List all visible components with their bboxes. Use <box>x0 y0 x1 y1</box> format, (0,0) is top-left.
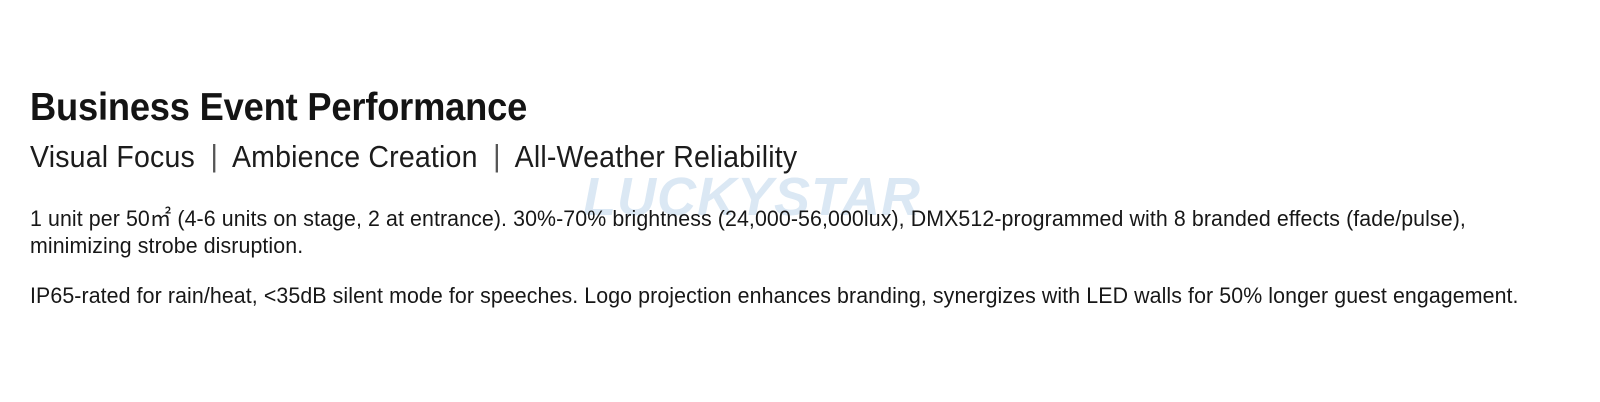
tagline-part-visual-focus: Visual Focus <box>30 139 195 174</box>
product-feature-panel: LUCKYSTAR Business Event Performance Vis… <box>0 0 1600 402</box>
tagline-part-all-weather-reliability: All-Weather Reliability <box>515 139 798 174</box>
tagline-separator-icon: | <box>203 137 225 175</box>
description-block-secondary: IP65-rated for rain/heat, <35dB silent m… <box>30 282 1590 309</box>
page-title: Business Event Performance <box>30 86 527 130</box>
description-paragraph: 1 unit per 50㎡ (4-6 units on stage, 2 at… <box>30 205 1543 259</box>
description-block-primary: 1 unit per 50㎡ (4-6 units on stage, 2 at… <box>30 205 1590 259</box>
feature-tagline: Visual Focus | Ambience Creation | All-W… <box>30 138 797 176</box>
tagline-separator-icon: | <box>486 137 508 175</box>
tagline-part-ambience-creation: Ambience Creation <box>232 139 478 174</box>
description-paragraph: IP65-rated for rain/heat, <35dB silent m… <box>30 282 1543 309</box>
